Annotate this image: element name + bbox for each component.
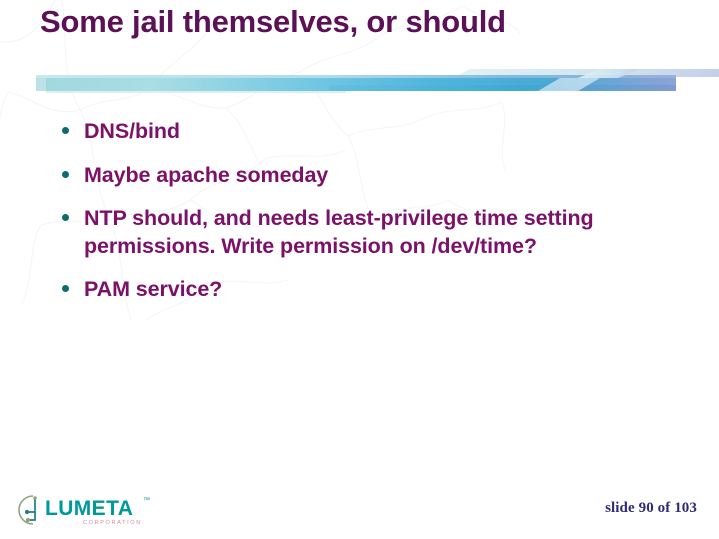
- list-item: PAM service?: [62, 276, 687, 304]
- title-underline-banner: [0, 68, 719, 100]
- bullet-dot-icon: [62, 276, 84, 292]
- bullet-dot-icon: [62, 162, 84, 178]
- bullet-text: PAM service?: [84, 276, 687, 304]
- slide-title: Some jail themselves, or should: [40, 4, 660, 40]
- list-item: DNS/bind: [62, 118, 687, 146]
- logo-subtext: CORPORATION: [83, 520, 142, 526]
- bullet-text: DNS/bind: [84, 118, 687, 146]
- bullet-text: Maybe apache someday: [84, 162, 687, 190]
- bullet-dot-icon: [62, 205, 84, 221]
- list-item: NTP should, and needs least-privilege ti…: [62, 205, 687, 260]
- logo-trademark-icon: ™: [143, 497, 150, 504]
- bullet-text: NTP should, and needs least-privilege ti…: [84, 205, 687, 260]
- lumeta-logo: LUMETA ™ CORPORATION: [17, 492, 167, 528]
- slide-canvas: Some jail themselves, or should: [0, 0, 719, 539]
- bullet-dot-icon: [62, 118, 84, 134]
- list-item: Maybe apache someday: [62, 162, 687, 190]
- logo-wordmark: LUMETA: [45, 497, 133, 520]
- slide-number: slide 90 of 103: [605, 500, 697, 517]
- bullet-list: DNS/bind Maybe apache someday NTP should…: [62, 118, 687, 320]
